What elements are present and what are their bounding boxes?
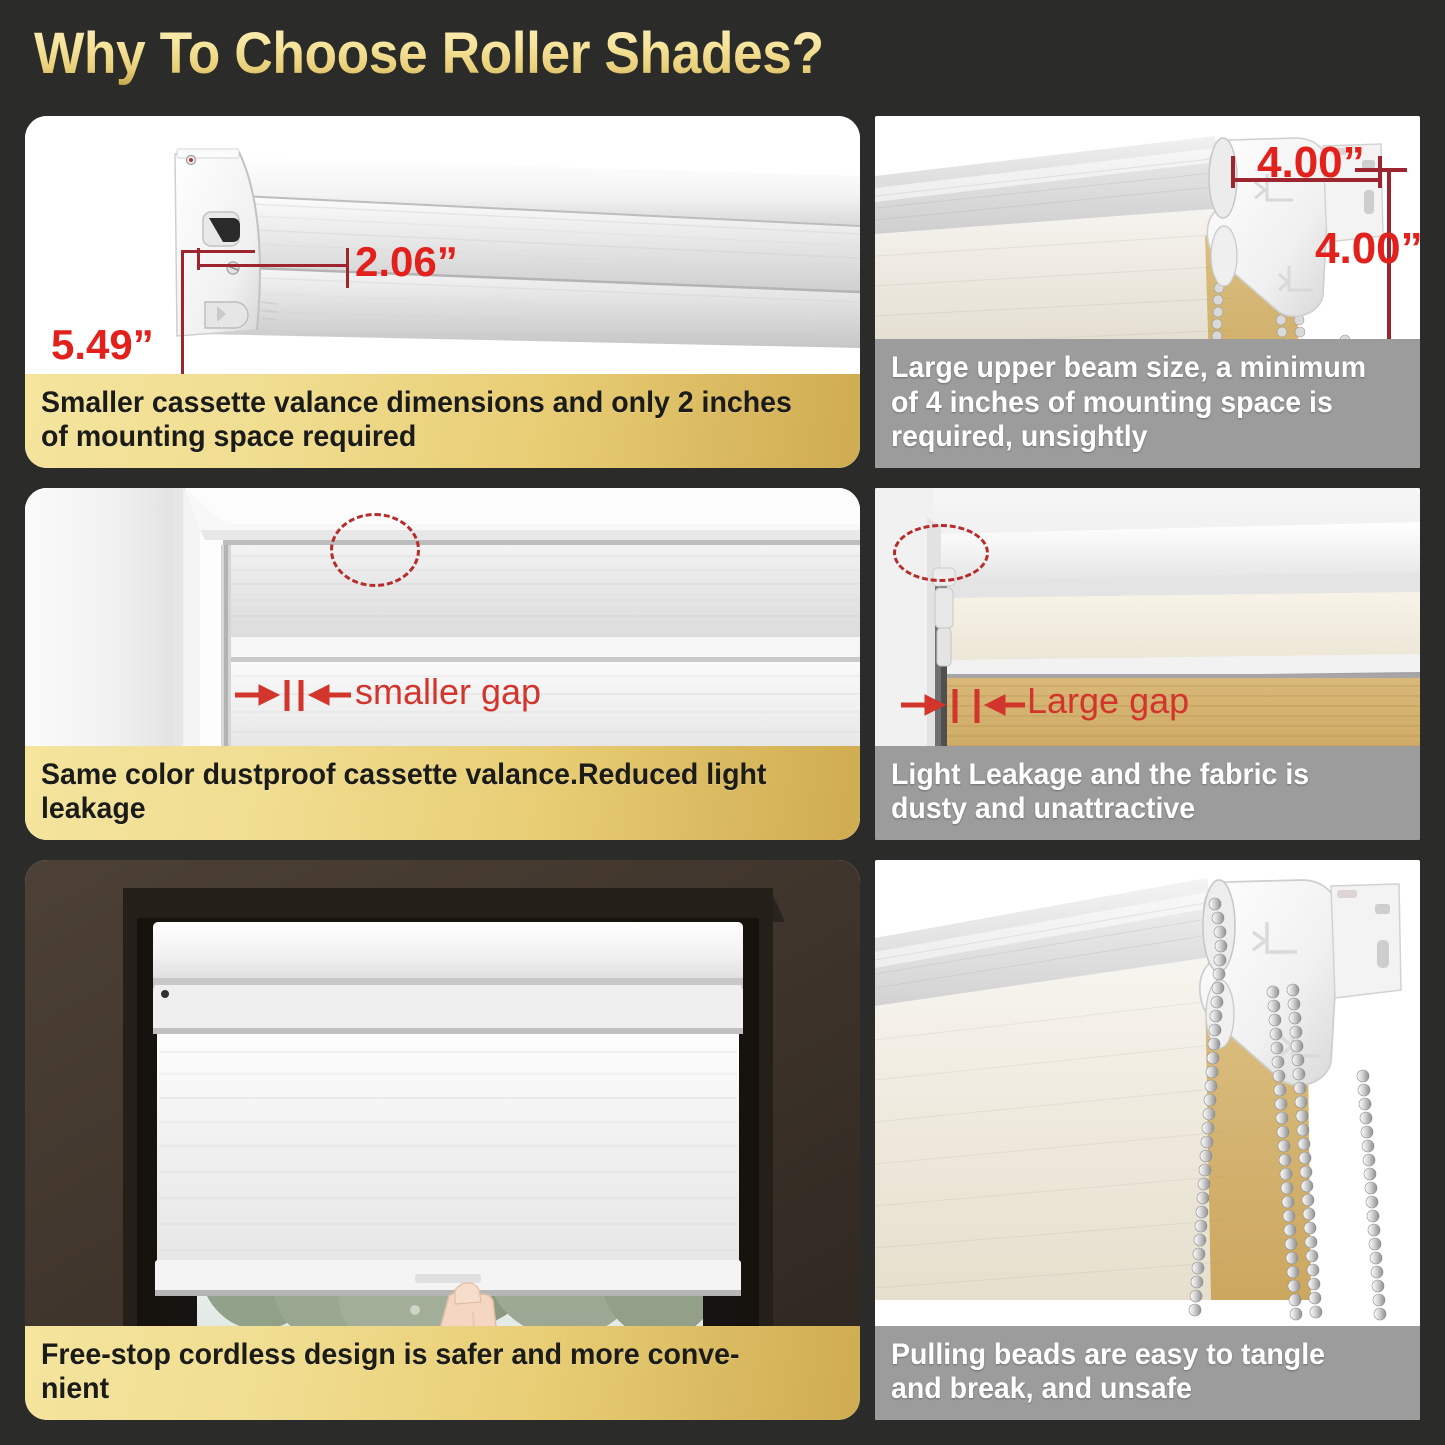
panel-1-caption: Smaller cassette valance dimensions and … — [25, 374, 860, 468]
width-dimension-line — [197, 264, 349, 267]
smaller-gap-label: smaller gap — [355, 671, 541, 713]
highlight-circle-icon — [893, 524, 989, 582]
panel-grid: 2.06” 5.49” Smaller cassette valance dim… — [0, 0, 1445, 1445]
panel-large-upper-beam: 4.00” 4.00” Large upper beam size, a min… — [875, 116, 1420, 468]
panel-2-caption: Large upper beam size, a minimum of 4 in… — [875, 339, 1420, 468]
large-gap-label: Large gap — [1027, 680, 1189, 722]
panel-3-caption: Same color dustproof cassette valance.Re… — [25, 746, 860, 840]
panel-light-leakage: Large gap Light Leakage and the fabric i… — [875, 488, 1420, 840]
bead-chain-shade-illustration — [875, 860, 1420, 1330]
panel-5-caption: Free-stop cordless design is safer and m… — [25, 1326, 860, 1420]
width-dimension-label: 2.06” — [355, 238, 458, 286]
infographic-page: Why To Choose Roller Shades? — [0, 0, 1445, 1445]
width-dimension-tick-right — [1378, 156, 1382, 188]
panel-1-caption-text: Smaller cassette valance dimensions and … — [41, 386, 804, 454]
panel-4-caption: Light Leakage and the fabric is dusty an… — [875, 746, 1420, 840]
panel-4-caption-text: Light Leakage and the fabric is dusty an… — [891, 758, 1378, 826]
panel-6-caption: Pulling beads are easy to tangle and bre… — [875, 1326, 1420, 1420]
panel-6-caption-text: Pulling beads are easy to tangle and bre… — [891, 1338, 1378, 1406]
panel-cassette-dimensions: 2.06” 5.49” Smaller cassette valance dim… — [25, 116, 860, 468]
height-dimension-label: 5.49” — [51, 321, 154, 369]
panel-cordless-design: Free-stop cordless design is safer and m… — [25, 860, 860, 1420]
width-dimension-tick-right — [346, 248, 349, 288]
panel-3-caption-text: Same color dustproof cassette valance.Re… — [41, 758, 804, 826]
width-dimension-label: 4.00” — [1257, 138, 1365, 188]
width-dimension-tick-left — [1231, 156, 1235, 188]
panel-dustproof-valance: smaller gap Same color dustproof cassett… — [25, 488, 860, 840]
panel-pulling-beads: Pulling beads are easy to tangle and bre… — [875, 860, 1420, 1420]
panel-2-caption-text: Large upper beam size, a minimum of 4 in… — [891, 351, 1378, 454]
window-with-cordless-shade-illustration — [25, 860, 860, 1335]
height-dimension-tick-top — [181, 250, 255, 253]
window-frame-valance-illustration — [25, 488, 860, 768]
highlight-circle-icon — [330, 513, 420, 587]
height-dimension-label: 4.00” — [1315, 224, 1420, 274]
panel-5-caption-text: Free-stop cordless design is safer and m… — [41, 1338, 804, 1406]
height-dimension-tick-top — [1355, 168, 1407, 172]
